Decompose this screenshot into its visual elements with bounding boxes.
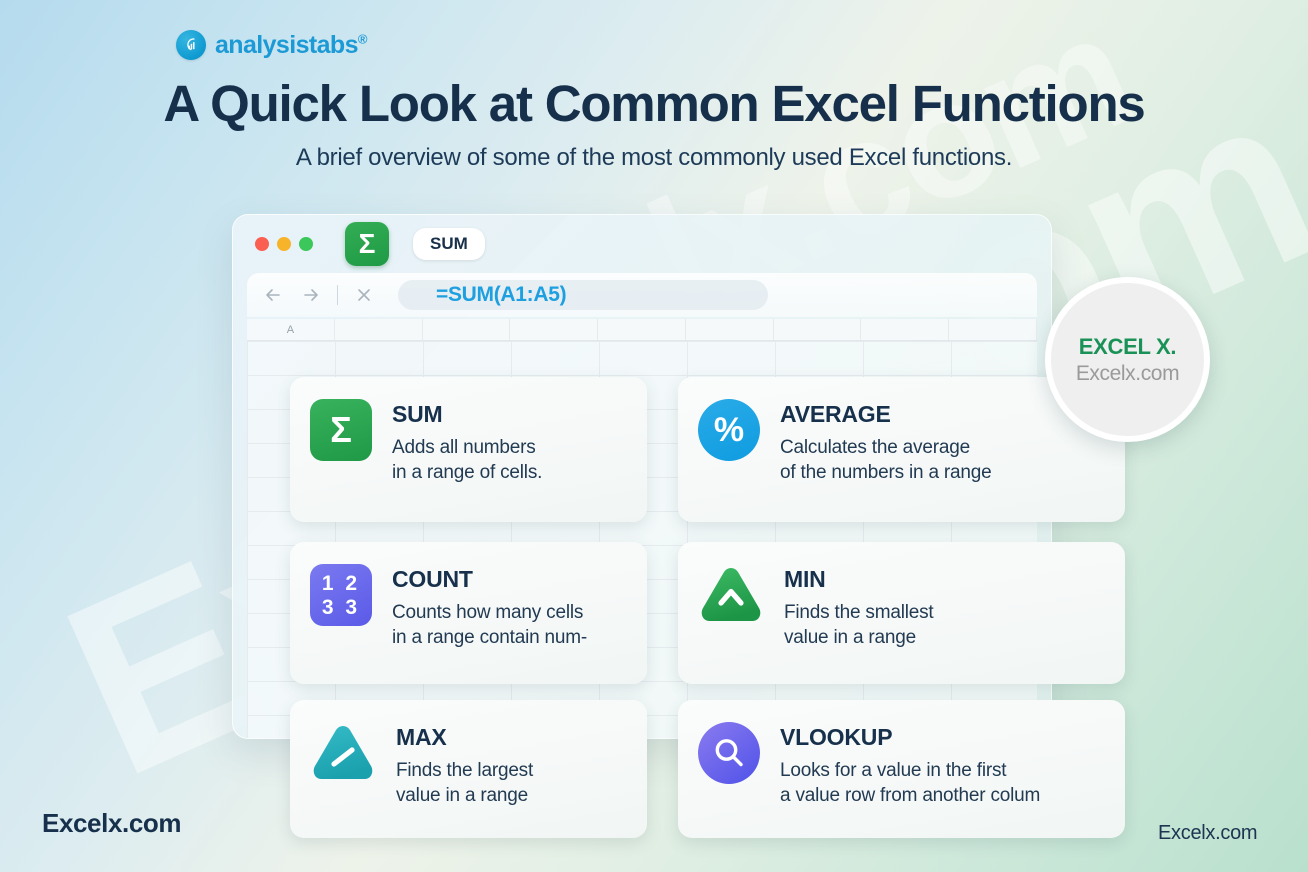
page-subtitle: A brief overview of some of the most com… — [0, 144, 1308, 172]
maximize-traffic-light[interactable] — [299, 237, 313, 251]
badge-sub-text: Excelx.com — [1076, 362, 1179, 386]
card-count-body: COUNT Counts how many cells in a range c… — [392, 564, 587, 650]
column-header-h[interactable] — [861, 319, 949, 340]
card-vlookup[interactable]: VLOOKUP Looks for a value in the first a… — [678, 700, 1125, 838]
card-vlookup-title: VLOOKUP — [780, 724, 1040, 752]
column-header-e[interactable] — [598, 319, 686, 340]
card-min-desc: Finds the smallest value in a range — [784, 600, 934, 651]
card-count[interactable]: 1 2 3 3 COUNT Counts how many cells in a… — [290, 542, 647, 684]
magnifier-icon — [698, 722, 760, 784]
column-header-b[interactable] — [335, 319, 423, 340]
card-sum-body: SUM Adds all numbers in a range of cells… — [392, 399, 542, 485]
tab-sum[interactable]: SUM — [413, 228, 485, 260]
card-min-title: MIN — [784, 566, 934, 594]
card-vlookup-desc: Looks for a value in the first a value r… — [780, 758, 1040, 809]
sigma-icon: Σ — [310, 399, 372, 461]
formula-toolbar: =SUM(A1:A5) — [247, 273, 1037, 317]
triangle-slash-icon — [310, 722, 376, 784]
card-min[interactable]: MIN Finds the smallest value in a range — [678, 542, 1125, 684]
registered-mark: ® — [358, 31, 367, 46]
card-sum-title: SUM — [392, 401, 542, 429]
footer-left-text: Excelx.com — [42, 808, 181, 839]
back-arrow-icon[interactable] — [261, 283, 285, 307]
column-header-c[interactable] — [423, 319, 511, 340]
column-header-f[interactable] — [686, 319, 774, 340]
excelx-badge: EXCEL X. Excelx.com — [1045, 277, 1210, 442]
card-count-title: COUNT — [392, 566, 587, 594]
numbers-grid-icon: 1 2 3 3 — [310, 564, 372, 626]
card-max[interactable]: MAX Finds the largest value in a range — [290, 700, 647, 838]
card-vlookup-body: VLOOKUP Looks for a value in the first a… — [780, 722, 1040, 808]
close-traffic-light[interactable] — [255, 237, 269, 251]
card-max-title: MAX — [396, 724, 533, 752]
card-max-body: MAX Finds the largest value in a range — [396, 722, 533, 808]
formula-input[interactable]: =SUM(A1:A5) — [398, 280, 768, 310]
count-icon-row1: 1 2 — [322, 573, 360, 594]
column-header-a[interactable]: A — [247, 319, 335, 340]
close-icon[interactable] — [352, 283, 376, 307]
page-title: A Quick Look at Common Excel Functions — [0, 74, 1308, 133]
analysistabs-logo-icon — [176, 30, 206, 60]
card-sum-desc: Adds all numbers in a range of cells. — [392, 435, 542, 486]
card-max-desc: Finds the largest value in a range — [396, 758, 533, 809]
card-average-title: AVERAGE — [780, 401, 992, 429]
excel-app-icon: Σ — [345, 222, 389, 266]
forward-arrow-icon[interactable] — [299, 283, 323, 307]
footer-right-text: Excelx.com — [1158, 822, 1257, 845]
column-header-row: A — [247, 319, 1037, 341]
card-average-desc: Calculates the average of the numbers in… — [780, 435, 992, 486]
column-header-g[interactable] — [774, 319, 862, 340]
percent-icon: % — [698, 399, 760, 461]
brand-logo: analysistabs® — [176, 30, 367, 60]
column-header-d[interactable] — [510, 319, 598, 340]
brand-name: analysistabs® — [215, 31, 367, 60]
badge-main-text: EXCEL X. — [1079, 334, 1176, 360]
column-header-i[interactable] — [949, 319, 1037, 340]
triangle-chevron-up-icon — [698, 564, 764, 626]
card-min-body: MIN Finds the smallest value in a range — [784, 564, 934, 650]
window-titlebar: Σ SUM — [233, 215, 1051, 273]
card-average-body: AVERAGE Calculates the average of the nu… — [780, 399, 992, 485]
toolbar-divider — [337, 285, 338, 305]
count-icon-row2: 3 3 — [322, 597, 360, 618]
minimize-traffic-light[interactable] — [277, 237, 291, 251]
card-sum[interactable]: Σ SUM Adds all numbers in a range of cel… — [290, 377, 647, 522]
infographic-canvas: lx.com Excelx.com analysistabs® A Quick … — [0, 0, 1308, 872]
card-count-desc: Counts how many cells in a range contain… — [392, 600, 587, 651]
